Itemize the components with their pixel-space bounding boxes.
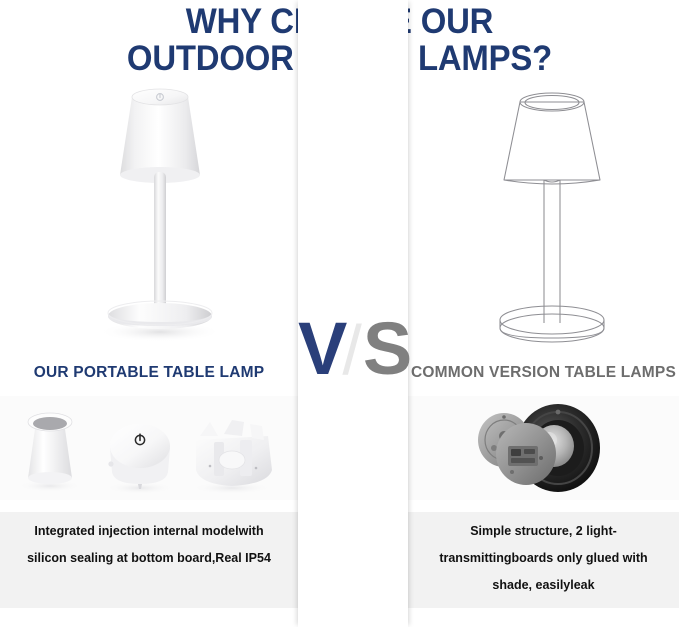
panel-divider-left: [0, 500, 298, 512]
common-lamp-parts-illustration: [408, 396, 679, 500]
versus-s: S: [363, 307, 410, 390]
common-lamp-label: COMMON VERSION TABLE LAMPS: [408, 364, 679, 382]
versus-divider-column: V/S: [298, 0, 408, 627]
our-lamp-parts-illustration: [0, 396, 298, 500]
common-lamp-outline: [462, 80, 642, 350]
common-lamp-illustration: [462, 80, 642, 350]
versus-v: V: [298, 307, 345, 390]
our-lamp-illustration: [60, 80, 260, 350]
common-lamp-caption: Simple structure, 2 light-transmittingbo…: [408, 518, 679, 599]
common-lamp-detail-panel: Simple structure, 2 light-transmittingbo…: [408, 396, 679, 608]
internal-housing-part: [192, 420, 272, 494]
panel-divider-right: [408, 500, 679, 512]
our-lamp-photo: [60, 80, 260, 350]
infographic-root: WHY CHOOSE OUR OUTDOOR TABLE LAMPS?: [0, 0, 679, 627]
shade-part: [18, 413, 82, 492]
versus-badge: V/S: [298, 311, 408, 391]
versus-slash: /: [342, 311, 359, 389]
our-lamp-detail-panel: Integrated injection internal modelwith …: [0, 396, 298, 608]
our-lamp-label: OUR PORTABLE TABLE LAMP: [0, 364, 298, 382]
our-lamp-caption: Integrated injection internal modelwith …: [0, 518, 298, 572]
common-lamp-parts-photo: [408, 396, 679, 500]
circuit-board-plate: [496, 423, 556, 485]
base-part: [106, 424, 174, 494]
our-lamp-parts-photo: [0, 396, 298, 500]
